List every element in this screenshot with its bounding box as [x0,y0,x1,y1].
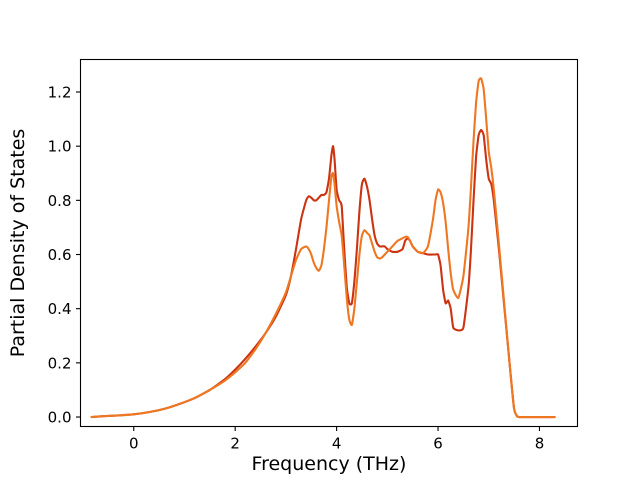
x-axis-title: Frequency (THz) [252,453,407,475]
chart-plot: 024680.00.20.40.60.81.01.2 Frequency (TH… [0,0,640,480]
series-group [92,78,555,417]
y-tick-label: 0.8 [48,192,72,210]
y-tick-label: 1.0 [48,138,72,156]
series-line-pdos-orange [92,78,555,417]
y-tick-label: 0.0 [48,409,72,427]
figure-canvas: 024680.00.20.40.60.81.01.2 Frequency (TH… [0,0,640,480]
series-line-pdos-red [92,130,555,417]
y-axis-title: Partial Density of States [7,129,29,358]
x-tick-label: 0 [129,435,139,453]
x-tick-label: 4 [332,435,342,453]
x-tick-label: 2 [230,435,240,453]
y-tick-label: 1.2 [48,84,72,102]
y-tick-label: 0.4 [48,300,72,318]
x-tick-label: 8 [535,435,545,453]
y-tick-label: 0.2 [48,354,72,372]
axes-frame [81,60,578,427]
x-tick-label: 6 [433,435,443,453]
y-tick-label: 0.6 [48,246,72,264]
